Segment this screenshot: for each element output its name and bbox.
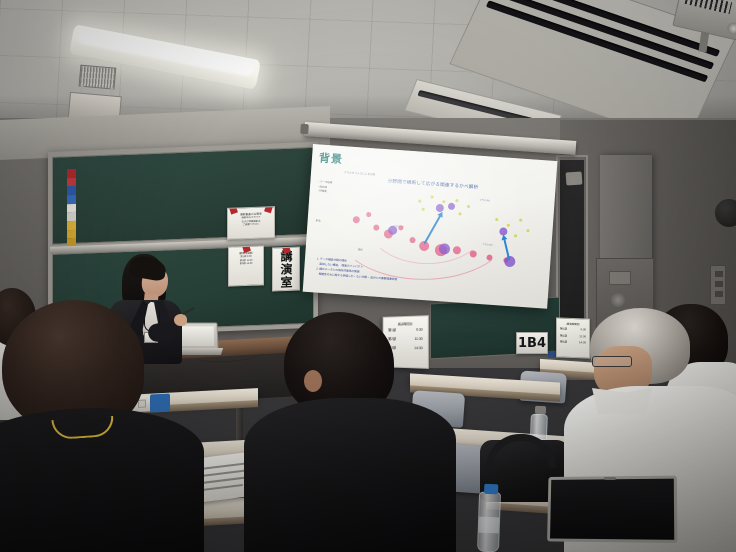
projection-screen: 背景 クラスタリングによる分類 分野間で横断して広がる関連するかべ解析 ・データ… — [303, 144, 558, 309]
scatter-dot — [418, 200, 421, 203]
sign-schedule-on-board: 講演時間割 第1部 9:30 第2部 11:30 第3部 14:30 — [228, 245, 264, 286]
scatter-dot — [519, 218, 522, 221]
scatter-dot — [514, 234, 517, 237]
scatter-dot — [442, 200, 445, 203]
cluster-label: クラスタC — [482, 242, 493, 247]
audience-laptop-open[interactable] — [546, 476, 682, 552]
slide-ylabel: 手法 — [316, 218, 321, 222]
lecture-room-photo: 撮影動画の公開等 発表中のスライド および写真撮影は ご遠慮ください 講演時間割… — [0, 0, 736, 552]
audience-center-ear — [304, 370, 322, 392]
scatter-dot — [486, 254, 492, 260]
scatter-dot — [455, 199, 458, 202]
scatter-dot — [495, 218, 498, 221]
plastic-water-bottle[interactable] — [477, 492, 501, 552]
sign-photography-notice: 撮影動画の公開等 発表中のスライド および写真撮影は ご遠慮ください — [227, 206, 275, 240]
part-label: 第3部 — [560, 339, 567, 346]
cluster-label: クラスタB — [479, 198, 489, 203]
glasses-icon — [592, 356, 632, 367]
audience-center-torso — [244, 398, 456, 552]
chalk-magnet-strip — [67, 169, 76, 247]
presentation-slide: 背景 クラスタリングによる分類 分野間で横断して広がる関連するかべ解析 ・データ… — [303, 144, 558, 309]
sign-lecture-room: 講演室 — [272, 247, 300, 292]
wall-clock-icon — [714, 198, 736, 228]
light-switch[interactable] — [710, 265, 726, 305]
scatter-dot — [458, 212, 461, 215]
audience-front-center — [252, 312, 452, 552]
slide-scatter-diagram: クラスタA クラスタB クラスタC — [329, 176, 539, 272]
lecture-room-label: 講演室 — [280, 249, 292, 288]
slide-y-axis-notes: ・データ取得 ・前処理 ・特徴量 — [317, 180, 333, 195]
room-number-plate: 1B4 — [516, 332, 548, 354]
notice-line: ご遠慮ください — [228, 223, 274, 228]
scatter-dot — [527, 229, 530, 232]
wall-speaker-icon — [566, 171, 583, 185]
scatter-dot — [467, 205, 470, 208]
audience-front-left — [0, 300, 232, 552]
scatter-dot — [453, 246, 462, 255]
webcam-icon — [604, 477, 616, 480]
screen-case-endcap — [300, 124, 309, 135]
schedule-line: 第3部 14:30 — [229, 262, 263, 267]
